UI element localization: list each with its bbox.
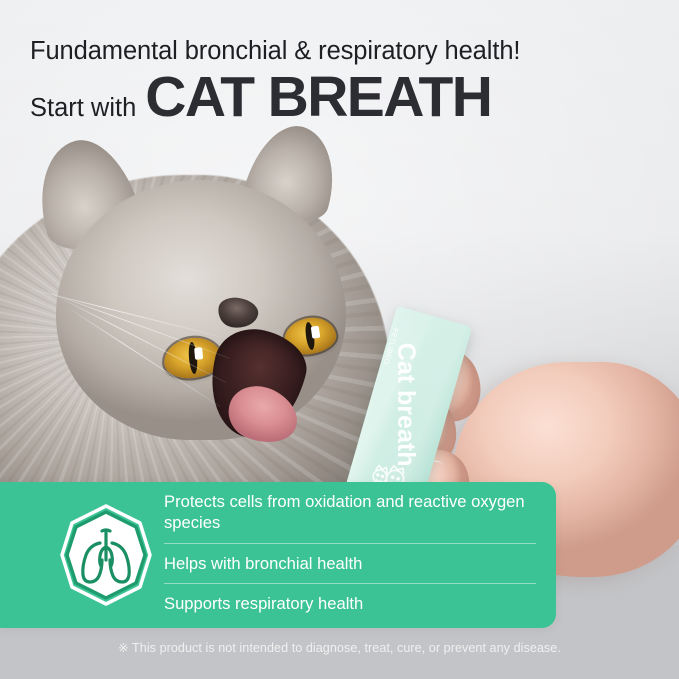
lungs-badge-icon [54, 503, 158, 607]
benefit-item: Protects cells from oxidation and reacti… [164, 487, 536, 542]
cat-whiskers [20, 330, 270, 460]
sachet-name-line2: breath [392, 390, 420, 466]
sachet-product-name: Cat breath [392, 343, 418, 467]
benefit-item: Supports respiratory health [164, 584, 536, 623]
headline-product-line: Start with CAT BREATH [30, 68, 663, 126]
headline-prefix: Start with [30, 94, 136, 123]
lungs-badge [52, 503, 160, 607]
benefits-panel: Protects cells from oxidation and reacti… [0, 482, 556, 628]
headline-tagline: Fundamental bronchial & respiratory heal… [30, 36, 663, 66]
disclaimer-text: ※ This product is not intended to diagno… [0, 640, 679, 655]
sachet-name-line1: Cat [392, 343, 420, 383]
cat-eye-glint-right [311, 325, 321, 338]
headline-product-name: CAT BREATH [145, 68, 491, 126]
benefit-item: Helps with bronchial health [164, 544, 536, 583]
product-ad-image: PETLIBRO Cat breath [0, 0, 679, 679]
benefits-list: Protects cells from oxidation and reacti… [164, 487, 536, 623]
headline-block: Fundamental bronchial & respiratory heal… [30, 36, 663, 126]
